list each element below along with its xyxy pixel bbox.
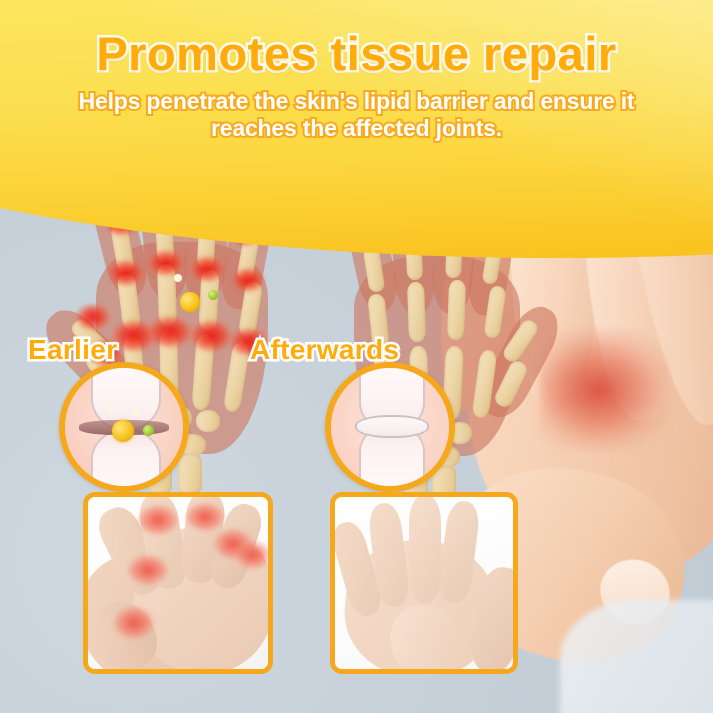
page-title: Promotes tissue repair <box>0 26 713 81</box>
after-photo-frame <box>330 492 518 674</box>
before-joint-inset <box>59 362 189 492</box>
label-afterwards: Afterwards <box>250 334 399 366</box>
background-sleeve <box>560 600 713 713</box>
before-photo-frame <box>83 492 273 674</box>
product-promo-poster: Promotes tissue repair Helps penetrate t… <box>0 0 713 713</box>
subtitle-line-1: Helps penetrate the skin's lipid barrier… <box>0 88 713 115</box>
label-earlier: Earlier <box>28 334 117 366</box>
after-photo <box>335 497 513 669</box>
after-joint-inset <box>325 362 455 492</box>
crystal-deposit-icon <box>180 292 200 312</box>
before-photo <box>88 497 268 669</box>
crystal-deposit-small-icon <box>208 290 218 300</box>
page-subtitle: Helps penetrate the skin's lipid barrier… <box>0 88 713 142</box>
subtitle-line-2: reaches the affected joints. <box>0 115 713 142</box>
inflamed-knuckle-icon <box>138 505 178 535</box>
inset-crystal-icon <box>112 420 134 442</box>
